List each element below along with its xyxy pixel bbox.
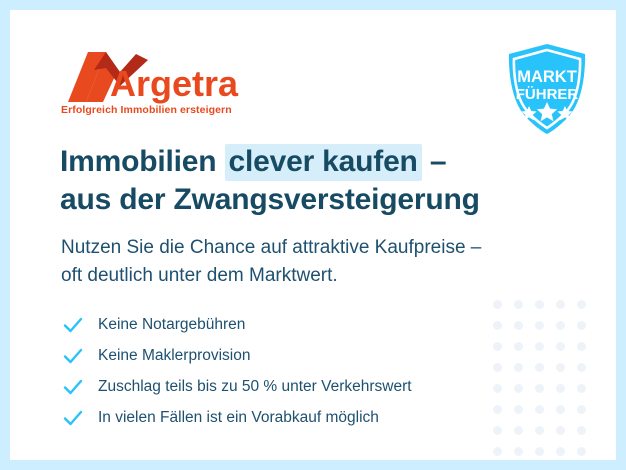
- decorative-dot: [556, 447, 565, 456]
- decorative-dot: [514, 300, 523, 309]
- decorative-dot-grid: [493, 300, 598, 460]
- subheadline: Nutzen Sie die Chance auf attraktive Kau…: [61, 234, 481, 290]
- badge-line-1: MARKT: [517, 68, 577, 86]
- decorative-dot: [556, 321, 565, 330]
- decorative-dot: [556, 300, 565, 309]
- decorative-dot: [535, 384, 544, 393]
- list-item: Keine Notargebühren: [62, 309, 412, 340]
- decorative-dot: [535, 447, 544, 456]
- decorative-dot: [577, 384, 586, 393]
- argetra-logo: Argetra Erfolgreich Immobilien ersteiger…: [58, 46, 268, 118]
- marktfuehrer-badge: MARKT FÜHRER: [497, 40, 597, 140]
- check-icon: [62, 407, 84, 429]
- list-item-label: In vielen Fällen ist ein Vorabkauf mögli…: [98, 408, 379, 428]
- argetra-logo-icon: Argetra Erfolgreich Immobilien ersteiger…: [58, 46, 268, 118]
- decorative-dot: [556, 405, 565, 414]
- list-item: In vielen Fällen ist ein Vorabkauf mögli…: [62, 402, 412, 433]
- decorative-dot: [493, 384, 502, 393]
- subheadline-line-1: Nutzen Sie die Chance auf attraktive Kau…: [61, 234, 481, 262]
- decorative-dot: [577, 426, 586, 435]
- decorative-dot: [514, 447, 523, 456]
- check-icon: [62, 376, 84, 398]
- decorative-dot: [493, 342, 502, 351]
- list-item: Zuschlag teils bis zu 50 % unter Verkehr…: [62, 371, 412, 402]
- headline-text-before: Immobilien: [60, 145, 225, 178]
- decorative-dot: [514, 342, 523, 351]
- decorative-dot: [514, 363, 523, 372]
- shield-badge-icon: MARKT FÜHRER: [497, 40, 597, 140]
- decorative-dot: [577, 321, 586, 330]
- decorative-dot: [535, 342, 544, 351]
- decorative-dot: [556, 363, 565, 372]
- decorative-dot: [493, 321, 502, 330]
- decorative-dot: [577, 342, 586, 351]
- headline-text-after: –: [422, 145, 447, 178]
- decorative-dot: [514, 321, 523, 330]
- decorative-dot: [577, 405, 586, 414]
- promo-banner: Argetra Erfolgreich Immobilien ersteiger…: [0, 0, 626, 470]
- subheadline-line-2: oft deutlich unter dem Marktwert.: [61, 262, 481, 290]
- list-item-label: Keine Notargebühren: [98, 315, 245, 335]
- logo-wordmark: Argetra: [110, 63, 239, 104]
- badge-line-2: FÜHRER: [516, 86, 579, 103]
- headline: Immobilien clever kaufen – aus der Zwang…: [60, 143, 480, 219]
- check-icon: [62, 314, 84, 336]
- decorative-dot: [493, 300, 502, 309]
- decorative-dot: [535, 321, 544, 330]
- decorative-dot: [514, 405, 523, 414]
- list-item: Keine Maklerprovision: [62, 340, 412, 371]
- decorative-dot: [493, 447, 502, 456]
- decorative-dot: [493, 405, 502, 414]
- headline-line-1: Immobilien clever kaufen –: [60, 143, 480, 181]
- decorative-dot: [556, 384, 565, 393]
- list-item-label: Zuschlag teils bis zu 50 % unter Verkehr…: [98, 377, 412, 397]
- decorative-dot: [493, 426, 502, 435]
- decorative-dot: [535, 300, 544, 309]
- check-icon: [62, 345, 84, 367]
- decorative-dot: [577, 300, 586, 309]
- headline-highlight: clever kaufen: [225, 144, 422, 181]
- decorative-dot: [535, 405, 544, 414]
- decorative-dot: [514, 426, 523, 435]
- logo-tagline: Erfolgreich Immobilien ersteigern: [61, 104, 232, 116]
- decorative-dot: [556, 426, 565, 435]
- banner-content-area: Argetra Erfolgreich Immobilien ersteiger…: [10, 10, 616, 460]
- benefit-list: Keine Notargebühren Keine Maklerprovisio…: [62, 309, 412, 433]
- decorative-dot: [493, 363, 502, 372]
- decorative-dot: [535, 363, 544, 372]
- decorative-dot: [577, 363, 586, 372]
- headline-line-2: aus der Zwangsversteigerung: [60, 181, 480, 219]
- list-item-label: Keine Maklerprovision: [98, 346, 251, 366]
- decorative-dot: [556, 342, 565, 351]
- decorative-dot: [577, 447, 586, 456]
- decorative-dot: [514, 384, 523, 393]
- decorative-dot: [535, 426, 544, 435]
